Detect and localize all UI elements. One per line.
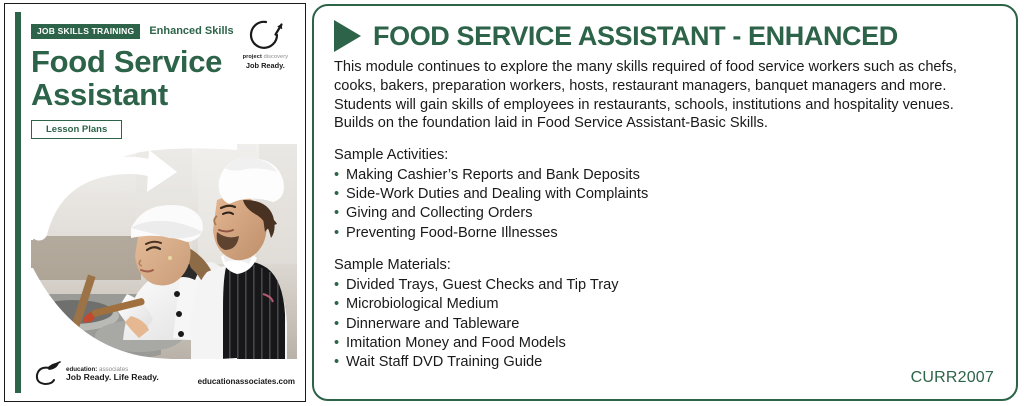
job-skills-training-badge: JOB SKILLS TRAINING [31, 24, 140, 39]
list-item: Preventing Food-Borne Illnesses [334, 224, 1000, 243]
sample-materials-list: Divided Trays, Guest Checks and Tip Tray… [334, 276, 1000, 373]
list-item: Divided Trays, Guest Checks and Tip Tray [334, 276, 1000, 295]
ea-tagline: Job Ready. Life Ready. [66, 373, 159, 383]
course-title-row: FOOD SERVICE ASSISTANT - ENHANCED [334, 20, 1000, 52]
course-title: FOOD SERVICE ASSISTANT - ENHANCED [373, 23, 898, 50]
cover-heading-block: JOB SKILLS TRAINING Enhanced Skills Food… [31, 14, 234, 139]
apple-logo-icon [33, 361, 63, 387]
cover-header: JOB SKILLS TRAINING Enhanced Skills Food… [31, 14, 297, 139]
circle-arrow-icon [245, 18, 285, 52]
play-triangle-icon [334, 20, 361, 52]
project-discovery-name: project discovery [234, 54, 297, 60]
cover-photo [31, 144, 297, 359]
list-item: Microbiological Medium [334, 295, 1000, 314]
course-detail-panel: FOOD SERVICE ASSISTANT - ENHANCED This m… [312, 4, 1018, 401]
pd-name-bold: project [243, 54, 262, 60]
catalog-entry-page: JOB SKILLS TRAINING Enhanced Skills Food… [0, 0, 1024, 406]
kitchen-chefs-photo [31, 144, 297, 359]
sample-materials-section: Sample Materials: Divided Trays, Guest C… [334, 256, 1000, 372]
pd-name-light: discovery [262, 54, 288, 60]
cover-footer: education: associates Job Ready. Life Re… [33, 361, 295, 387]
course-code: CURR2007 [911, 369, 994, 387]
education-associates-text: education: associates Job Ready. Life Re… [66, 366, 159, 383]
cover-title: Food Service Assistant [31, 45, 234, 111]
cover-content: JOB SKILLS TRAINING Enhanced Skills Food… [31, 14, 297, 395]
sample-activities-heading: Sample Activities: [334, 146, 1000, 165]
enhanced-skills-label: Enhanced Skills [149, 25, 233, 37]
sample-activities-section: Sample Activities: Making Cashier’s Repo… [334, 146, 1000, 243]
list-item: Wait Staff DVD Training Guide [334, 353, 1000, 372]
ea-website[interactable]: educationassociates.com [198, 377, 295, 387]
project-discovery-tagline: Job Ready. [234, 61, 297, 70]
sample-materials-heading: Sample Materials: [334, 256, 1000, 275]
cover-title-line-1: Food Service [31, 45, 234, 78]
sample-activities-list: Making Cashier’s Reports and Bank Deposi… [334, 166, 1000, 244]
cover-spine-bar [15, 12, 21, 393]
cover-title-line-2: Assistant [31, 78, 234, 111]
cover-badge-row: JOB SKILLS TRAINING Enhanced Skills [31, 24, 234, 39]
list-item: Making Cashier’s Reports and Bank Deposi… [334, 166, 1000, 185]
list-item: Side-Work Duties and Dealing with Compla… [334, 185, 1000, 204]
project-discovery-logo: project discovery Job Ready. [234, 14, 297, 70]
list-item: Imitation Money and Food Models [334, 334, 1000, 353]
course-description: This module continues to explore the man… [334, 58, 996, 133]
list-item: Giving and Collecting Orders [334, 204, 1000, 223]
education-associates-logo: education: associates Job Ready. Life Re… [33, 361, 159, 387]
list-item: Dinnerware and Tableware [334, 315, 1000, 334]
lesson-plans-chip: Lesson Plans [31, 120, 122, 140]
product-cover-card[interactable]: JOB SKILLS TRAINING Enhanced Skills Food… [4, 3, 306, 402]
